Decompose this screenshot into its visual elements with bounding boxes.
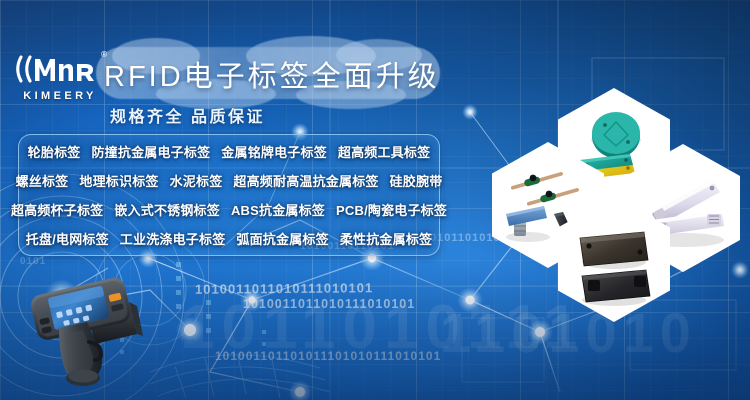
tag-item: ABS抗金属标签 <box>231 200 325 219</box>
tag-item: 工业洗涤电子标签 <box>120 229 226 248</box>
tag-row: 螺丝标签 地理标识标签 水泥标签 超高频耐高温抗金属标签 硅胶腕带 <box>23 166 435 195</box>
tag-item: 弧面抗金属标签 <box>236 229 328 248</box>
product-tag-panel: 轮胎标签 防撞抗金属电子标签 金属铭牌电子标签 超高频工具标签 螺丝标签 地理标… <box>18 134 440 256</box>
brand-logo: ® KIMEERY <box>14 52 106 110</box>
black-rugged-tag <box>582 270 650 306</box>
handheld-rfid-reader-icon <box>25 272 155 390</box>
tag-item: 轮胎标签 <box>28 142 81 161</box>
page-subtitle: 规格齐全 品质保证 <box>110 103 265 127</box>
page-title: RFID电子标签全面升级 <box>104 52 434 96</box>
tag-item: 螺丝标签 <box>16 171 69 190</box>
teal-round-disc-tag <box>592 112 640 158</box>
rfid-promo-banner: 1011010111 1101010 101001101101011101010… <box>0 0 750 400</box>
dark-abs-anti-metal-tag <box>580 232 648 269</box>
background-binary-small-6: 0101 <box>20 256 46 267</box>
tag-item: 超高频耐高温抗金属标签 <box>233 171 378 190</box>
tag-item: 金属铭牌电子标签 <box>221 142 327 161</box>
tag-item: 防撞抗金属电子标签 <box>91 142 210 161</box>
background-binary-small-3: 101001101101011101010111010101 <box>215 349 441 363</box>
tag-item: 托盘/电网标签 <box>26 229 109 248</box>
tag-item: 超高频杯子标签 <box>11 200 103 219</box>
tag-item: 硅胶腕带 <box>390 171 443 190</box>
tag-item: 超高频工具标签 <box>338 142 430 161</box>
background-binary-large-right: 1101010 <box>440 300 697 365</box>
tag-item: 地理标识标签 <box>79 171 158 190</box>
brand-name: KIMEERY <box>14 90 106 102</box>
tag-row: 轮胎标签 防撞抗金属电子标签 金属铭牌电子标签 超高频工具标签 <box>23 137 435 166</box>
tag-item: 嵌入式不锈钢标签 <box>114 200 220 219</box>
tag-row: 超高频杯子标签 嵌入式不锈钢标签 ABS抗金属标签 PCB/陶瓷电子标签 <box>23 195 435 224</box>
kmr-logo-icon <box>14 52 106 86</box>
tag-item: 柔性抗金属标签 <box>340 229 432 248</box>
blue-screw-tag <box>506 206 550 242</box>
background-binary-small-1: 1010011011010111010101 <box>195 280 373 297</box>
logo-mark: ® <box>14 52 106 86</box>
handheld-rfid-reader <box>25 272 155 390</box>
tag-item: 水泥标签 <box>170 171 223 190</box>
tag-item: PCB/陶瓷电子标签 <box>336 200 447 219</box>
glass-tube-tag <box>510 172 579 206</box>
background-binary-small-2: 1010011011010111010101 <box>243 297 415 311</box>
tag-row: 托盘/电网标签 工业洗涤电子标签 弧面抗金属标签 柔性抗金属标签 <box>23 224 435 253</box>
